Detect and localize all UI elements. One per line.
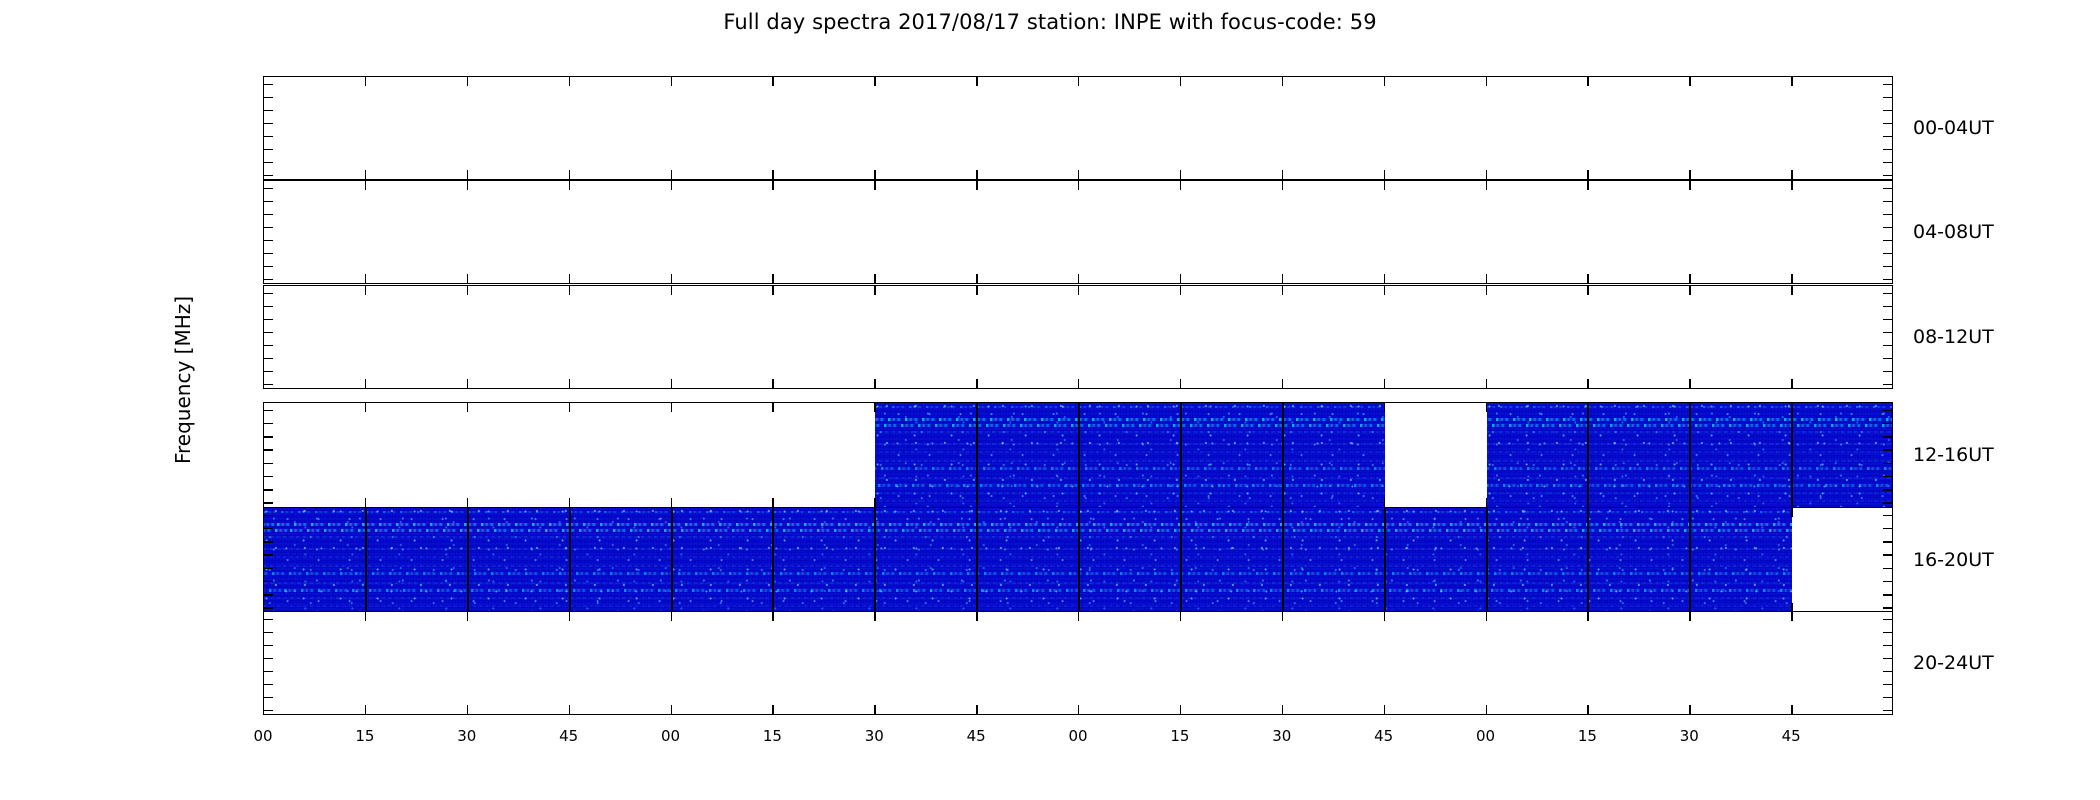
x-tick-bottom — [976, 705, 977, 714]
x-tick-bottom — [1078, 170, 1079, 179]
x-tick-top — [1689, 181, 1690, 190]
row-label-20-24ut: 20-24UT — [1913, 652, 1994, 674]
x-tick-top — [874, 612, 875, 621]
emission-streak — [264, 582, 1792, 584]
x-tick-top — [1486, 403, 1487, 412]
emission-streak — [264, 605, 1792, 607]
spectrogram-figure: Full day spectra 2017/08/17 station: INP… — [0, 0, 2100, 800]
x-tick-top — [1180, 181, 1181, 190]
x-tick-top — [874, 77, 875, 86]
x-tick-bottom — [365, 705, 366, 714]
x-tick-bottom — [1180, 379, 1181, 388]
panel-plot-area — [264, 403, 1892, 507]
y-tick — [264, 476, 273, 477]
x-tick-bottom — [467, 274, 468, 283]
x-tick-bottom — [1587, 170, 1588, 179]
x-tick-top — [1689, 77, 1690, 86]
x-tick-top — [1791, 612, 1792, 621]
emission-streak — [264, 523, 1792, 526]
x-tick-top — [1791, 77, 1792, 86]
segment-divider — [467, 508, 469, 612]
y-tick-right — [1883, 214, 1892, 215]
y-tick — [264, 266, 273, 267]
y-tick — [264, 240, 273, 241]
x-tick-top — [365, 181, 366, 190]
y-tick-right — [1883, 227, 1892, 228]
x-tick-label: 30 — [865, 727, 884, 745]
segment-divider — [365, 508, 367, 612]
segment-divider — [1384, 508, 1386, 612]
emission-streak — [875, 424, 1384, 427]
y-tick — [264, 632, 273, 633]
y-tick-right — [1883, 279, 1892, 280]
y-tick-right — [1883, 463, 1892, 464]
x-tick-top — [1384, 181, 1385, 190]
x-tick-bottom — [1180, 705, 1181, 714]
x-tick-label: 00 — [661, 727, 680, 745]
y-tick — [264, 97, 273, 98]
y-tick — [264, 110, 273, 111]
x-tick-bottom — [569, 498, 570, 507]
x-tick-top — [671, 286, 672, 295]
y-tick — [264, 410, 273, 411]
x-tick-bottom — [1384, 498, 1385, 507]
emission-streak — [875, 477, 1384, 479]
x-tick-bottom — [1587, 274, 1588, 283]
y-tick — [264, 554, 273, 555]
x-tick-bottom — [874, 705, 875, 714]
x-tick-bottom — [569, 379, 570, 388]
y-tick — [264, 358, 273, 359]
emission-streak — [875, 467, 1384, 470]
x-tick-bottom — [1587, 379, 1588, 388]
emission-streak — [264, 529, 1792, 532]
segment-divider — [1180, 403, 1182, 507]
y-tick — [264, 149, 273, 150]
y-tick — [264, 188, 273, 189]
x-tick-top — [976, 181, 977, 190]
y-tick-right — [1883, 162, 1892, 163]
y-tick-right — [1883, 110, 1892, 111]
spectrogram-panel-08-12ut: 800700600500400300200100 — [263, 285, 1893, 389]
x-tick-bottom — [365, 170, 366, 179]
x-tick-top — [1078, 77, 1079, 86]
x-tick-top — [671, 181, 672, 190]
x-tick-top — [467, 181, 468, 190]
x-tick-bottom — [976, 170, 977, 179]
x-tick-bottom — [772, 170, 773, 179]
segment-divider — [1078, 508, 1080, 612]
segment-divider — [1282, 403, 1284, 507]
emission-streak — [875, 451, 1384, 453]
y-tick-right — [1883, 358, 1892, 359]
x-tick-top — [1384, 286, 1385, 295]
y-tick-right — [1883, 306, 1892, 307]
y-tick-right — [1883, 410, 1892, 411]
y-tick-right — [1883, 671, 1892, 672]
emission-streak — [264, 589, 1792, 592]
x-tick-bottom — [365, 498, 366, 507]
y-tick-right — [1883, 476, 1892, 477]
x-tick-top — [1587, 181, 1588, 190]
y-tick-right — [1883, 345, 1892, 346]
y-tick-right — [1883, 632, 1892, 633]
x-tick-label: 00 — [253, 727, 272, 745]
x-tick-bottom — [1180, 274, 1181, 283]
x-tick-bottom — [1282, 170, 1283, 179]
emission-streak — [875, 418, 1384, 421]
segment-divider — [1282, 508, 1284, 612]
x-tick-top — [1282, 77, 1283, 86]
y-tick — [264, 684, 273, 685]
x-tick-label: 15 — [763, 727, 782, 745]
y-tick-right — [1883, 502, 1892, 503]
emission-streak — [875, 406, 1384, 408]
segment-divider — [772, 508, 774, 612]
x-tick-bottom — [365, 274, 366, 283]
segment-divider — [976, 403, 978, 507]
x-axis-tick-labels: 00153045001530450015304500153045 — [263, 727, 1893, 751]
x-tick-bottom — [671, 170, 672, 179]
x-tick-bottom — [1078, 379, 1079, 388]
y-tick — [264, 568, 273, 569]
segment-divider — [1587, 508, 1589, 612]
emission-streak — [264, 597, 1792, 599]
x-tick-bottom — [671, 274, 672, 283]
x-tick-bottom — [467, 379, 468, 388]
y-tick-right — [1883, 541, 1892, 542]
x-tick-bottom — [1689, 170, 1690, 179]
y-tick-right — [1883, 697, 1892, 698]
panel-plot-area — [264, 286, 1892, 388]
y-tick-right — [1883, 594, 1892, 595]
x-tick-bottom — [874, 274, 875, 283]
y-tick — [264, 162, 273, 163]
x-tick-top — [365, 286, 366, 295]
x-tick-label: 30 — [1680, 727, 1699, 745]
y-tick — [264, 423, 273, 424]
x-tick-top — [569, 181, 570, 190]
y-tick-right — [1883, 97, 1892, 98]
x-tick-top — [1486, 77, 1487, 86]
x-tick-bottom — [772, 498, 773, 507]
x-tick-bottom — [365, 379, 366, 388]
spectrogram-panel-20-24ut: 800700600500400300200100 — [263, 611, 1893, 715]
y-tick — [264, 123, 273, 124]
x-tick-top — [1689, 612, 1690, 621]
y-tick — [264, 227, 273, 228]
x-tick-top — [1384, 403, 1385, 412]
x-tick-bottom — [1282, 705, 1283, 714]
x-tick-bottom — [569, 705, 570, 714]
segment-divider — [1180, 508, 1182, 612]
x-tick-top — [1486, 612, 1487, 621]
y-tick — [264, 345, 273, 346]
y-tick-right — [1883, 371, 1892, 372]
panel-plot-area — [264, 77, 1892, 179]
x-tick-bottom — [1791, 705, 1792, 714]
spectrogram-panel-00-04ut: 800700600500400300200100 — [263, 76, 1893, 180]
y-tick — [264, 384, 273, 385]
y-tick — [264, 645, 273, 646]
x-tick-top — [1282, 181, 1283, 190]
y-tick — [264, 319, 273, 320]
panel-plot-area — [264, 181, 1892, 283]
y-tick-right — [1883, 449, 1892, 450]
x-tick-bottom — [1689, 705, 1690, 714]
y-tick-right — [1883, 554, 1892, 555]
x-tick-bottom — [1486, 379, 1487, 388]
row-label-16-20ut: 16-20UT — [1913, 549, 1994, 571]
y-tick-right — [1883, 319, 1892, 320]
emission-streak — [875, 484, 1384, 487]
x-tick-bottom — [772, 274, 773, 283]
x-tick-bottom — [1282, 379, 1283, 388]
x-tick-bottom — [467, 170, 468, 179]
y-tick-right — [1883, 607, 1892, 608]
x-tick-top — [1282, 286, 1283, 295]
x-tick-top — [467, 403, 468, 412]
y-tick-right — [1883, 710, 1892, 711]
x-tick-label: 15 — [1578, 727, 1597, 745]
spectrogram-panel-12-16ut: 800700600500400300200100 — [263, 402, 1893, 508]
y-tick — [264, 463, 273, 464]
y-tick — [264, 515, 273, 516]
segment-divider — [1689, 403, 1691, 507]
y-tick-right — [1883, 384, 1892, 385]
x-tick-bottom — [976, 379, 977, 388]
x-tick-top — [1791, 508, 1792, 517]
x-tick-bottom — [874, 170, 875, 179]
x-tick-top — [1180, 286, 1181, 295]
emission-streak — [875, 431, 1384, 433]
y-tick — [264, 502, 273, 503]
y-tick — [264, 136, 273, 137]
x-tick-bottom — [772, 379, 773, 388]
x-tick-top — [1384, 77, 1385, 86]
y-tick-right — [1883, 489, 1892, 490]
x-tick-top — [1078, 181, 1079, 190]
x-tick-bottom — [569, 274, 570, 283]
x-tick-top — [569, 286, 570, 295]
y-tick — [264, 489, 273, 490]
spectrogram-data-block — [264, 508, 1792, 612]
y-tick-right — [1883, 619, 1892, 620]
x-tick-bottom — [874, 379, 875, 388]
y-tick — [264, 671, 273, 672]
y-tick-right — [1883, 188, 1892, 189]
emission-streak — [875, 443, 1384, 445]
x-tick-top — [1486, 286, 1487, 295]
x-tick-top — [569, 77, 570, 86]
spectrogram-data-block — [875, 403, 1384, 507]
y-tick — [264, 332, 273, 333]
x-tick-bottom — [1486, 170, 1487, 179]
y-tick — [264, 449, 273, 450]
x-tick-top — [1384, 612, 1385, 621]
x-tick-bottom — [1078, 705, 1079, 714]
y-tick-right — [1883, 123, 1892, 124]
y-tick — [264, 201, 273, 202]
x-tick-top — [874, 286, 875, 295]
x-tick-bottom — [1587, 705, 1588, 714]
y-tick — [264, 541, 273, 542]
spectrogram-panel-04-08ut: 800700600500400300200100 — [263, 180, 1893, 284]
x-tick-top — [1180, 77, 1181, 86]
y-tick-right — [1883, 84, 1892, 85]
x-tick-top — [1078, 286, 1079, 295]
y-tick-right — [1883, 581, 1892, 582]
x-tick-label: 15 — [355, 727, 374, 745]
x-tick-top — [1689, 286, 1690, 295]
y-tick-right — [1883, 253, 1892, 254]
x-tick-bottom — [1486, 705, 1487, 714]
segment-divider — [671, 508, 673, 612]
x-tick-bottom — [1078, 274, 1079, 283]
segment-divider — [1689, 508, 1691, 612]
x-tick-top — [365, 403, 366, 412]
x-tick-top — [365, 612, 366, 621]
y-tick — [264, 293, 273, 294]
y-tick-right — [1883, 423, 1892, 424]
x-tick-top — [1587, 77, 1588, 86]
x-tick-top — [1791, 181, 1792, 190]
y-tick — [264, 253, 273, 254]
segment-divider — [1486, 508, 1488, 612]
x-tick-label: 45 — [967, 727, 986, 745]
y-tick — [264, 710, 273, 711]
x-tick-top — [467, 612, 468, 621]
x-tick-top — [976, 77, 977, 86]
y-tick — [264, 607, 273, 608]
segment-divider — [1791, 403, 1793, 507]
x-tick-top — [1486, 181, 1487, 190]
x-tick-bottom — [671, 379, 672, 388]
x-tick-label: 30 — [457, 727, 476, 745]
x-tick-label: 30 — [1272, 727, 1291, 745]
x-tick-label: 45 — [1374, 727, 1393, 745]
x-tick-top — [772, 77, 773, 86]
x-tick-top — [1587, 286, 1588, 295]
y-tick — [264, 594, 273, 595]
x-tick-bottom — [1689, 379, 1690, 388]
x-tick-top — [1587, 612, 1588, 621]
y-tick — [264, 697, 273, 698]
emission-streak — [875, 460, 1384, 462]
x-tick-top — [1282, 612, 1283, 621]
segment-divider — [976, 508, 978, 612]
emission-streak — [264, 548, 1792, 550]
y-tick — [264, 658, 273, 659]
x-tick-top — [467, 77, 468, 86]
panel-plot-area — [264, 508, 1892, 612]
spectrogram-panel-16-20ut: 800700600500400300200100 — [263, 507, 1893, 613]
x-tick-top — [1078, 612, 1079, 621]
y-tick-right — [1883, 436, 1892, 437]
x-tick-bottom — [1791, 170, 1792, 179]
x-tick-bottom — [671, 705, 672, 714]
x-tick-top — [1791, 286, 1792, 295]
x-tick-bottom — [467, 705, 468, 714]
x-tick-bottom — [976, 274, 977, 283]
emission-streak — [264, 572, 1792, 575]
y-tick-right — [1883, 240, 1892, 241]
x-tick-bottom — [1486, 274, 1487, 283]
y-tick-right — [1883, 201, 1892, 202]
x-tick-bottom — [1791, 274, 1792, 283]
y-axis-label: Frequency [MHz] — [171, 296, 195, 464]
x-tick-label: 00 — [1068, 727, 1087, 745]
emission-streak — [875, 500, 1384, 502]
y-tick — [264, 279, 273, 280]
row-label-08-12ut: 08-12UT — [1913, 326, 1994, 348]
y-tick-right — [1883, 515, 1892, 516]
y-tick-right — [1883, 684, 1892, 685]
y-tick — [264, 436, 273, 437]
y-tick-right — [1883, 568, 1892, 569]
x-tick-bottom — [569, 170, 570, 179]
emission-streak — [264, 565, 1792, 567]
x-tick-bottom — [671, 498, 672, 507]
x-tick-top — [772, 612, 773, 621]
y-tick — [264, 619, 273, 620]
x-tick-bottom — [1384, 379, 1385, 388]
x-tick-top — [976, 286, 977, 295]
x-tick-bottom — [467, 498, 468, 507]
y-tick — [264, 84, 273, 85]
x-tick-top — [365, 77, 366, 86]
x-tick-top — [874, 181, 875, 190]
y-tick — [264, 371, 273, 372]
x-tick-bottom — [772, 705, 773, 714]
y-tick — [264, 306, 273, 307]
x-tick-bottom — [1180, 170, 1181, 179]
y-tick-right — [1883, 175, 1892, 176]
row-label-04-08ut: 04-08UT — [1913, 221, 1994, 243]
panel-plot-area — [264, 612, 1892, 714]
segment-divider — [1078, 403, 1080, 507]
page-title: Full day spectra 2017/08/17 station: INP… — [0, 10, 2100, 34]
x-tick-label: 15 — [1170, 727, 1189, 745]
y-tick-right — [1883, 266, 1892, 267]
y-tick-right — [1883, 149, 1892, 150]
y-tick-right — [1883, 293, 1892, 294]
emission-streak — [264, 511, 1792, 513]
x-tick-top — [772, 403, 773, 412]
x-tick-top — [772, 286, 773, 295]
spectrogram-data-block — [1487, 403, 1893, 507]
row-label-00-04ut: 00-04UT — [1913, 117, 1994, 139]
emission-streak — [875, 492, 1384, 494]
x-tick-label: 45 — [1782, 727, 1801, 745]
x-tick-bottom — [1689, 274, 1690, 283]
x-tick-bottom — [1384, 705, 1385, 714]
row-label-12-16ut: 12-16UT — [1913, 444, 1994, 466]
x-tick-top — [976, 612, 977, 621]
x-tick-label: 45 — [559, 727, 578, 745]
y-tick-right — [1883, 645, 1892, 646]
x-tick-bottom — [1486, 498, 1487, 507]
y-tick-right — [1883, 332, 1892, 333]
x-tick-top — [874, 403, 875, 412]
x-tick-top — [671, 77, 672, 86]
y-tick — [264, 581, 273, 582]
segment-divider — [1587, 403, 1589, 507]
x-tick-top — [772, 181, 773, 190]
segment-divider — [569, 508, 571, 612]
y-tick — [264, 214, 273, 215]
y-tick-right — [1883, 658, 1892, 659]
